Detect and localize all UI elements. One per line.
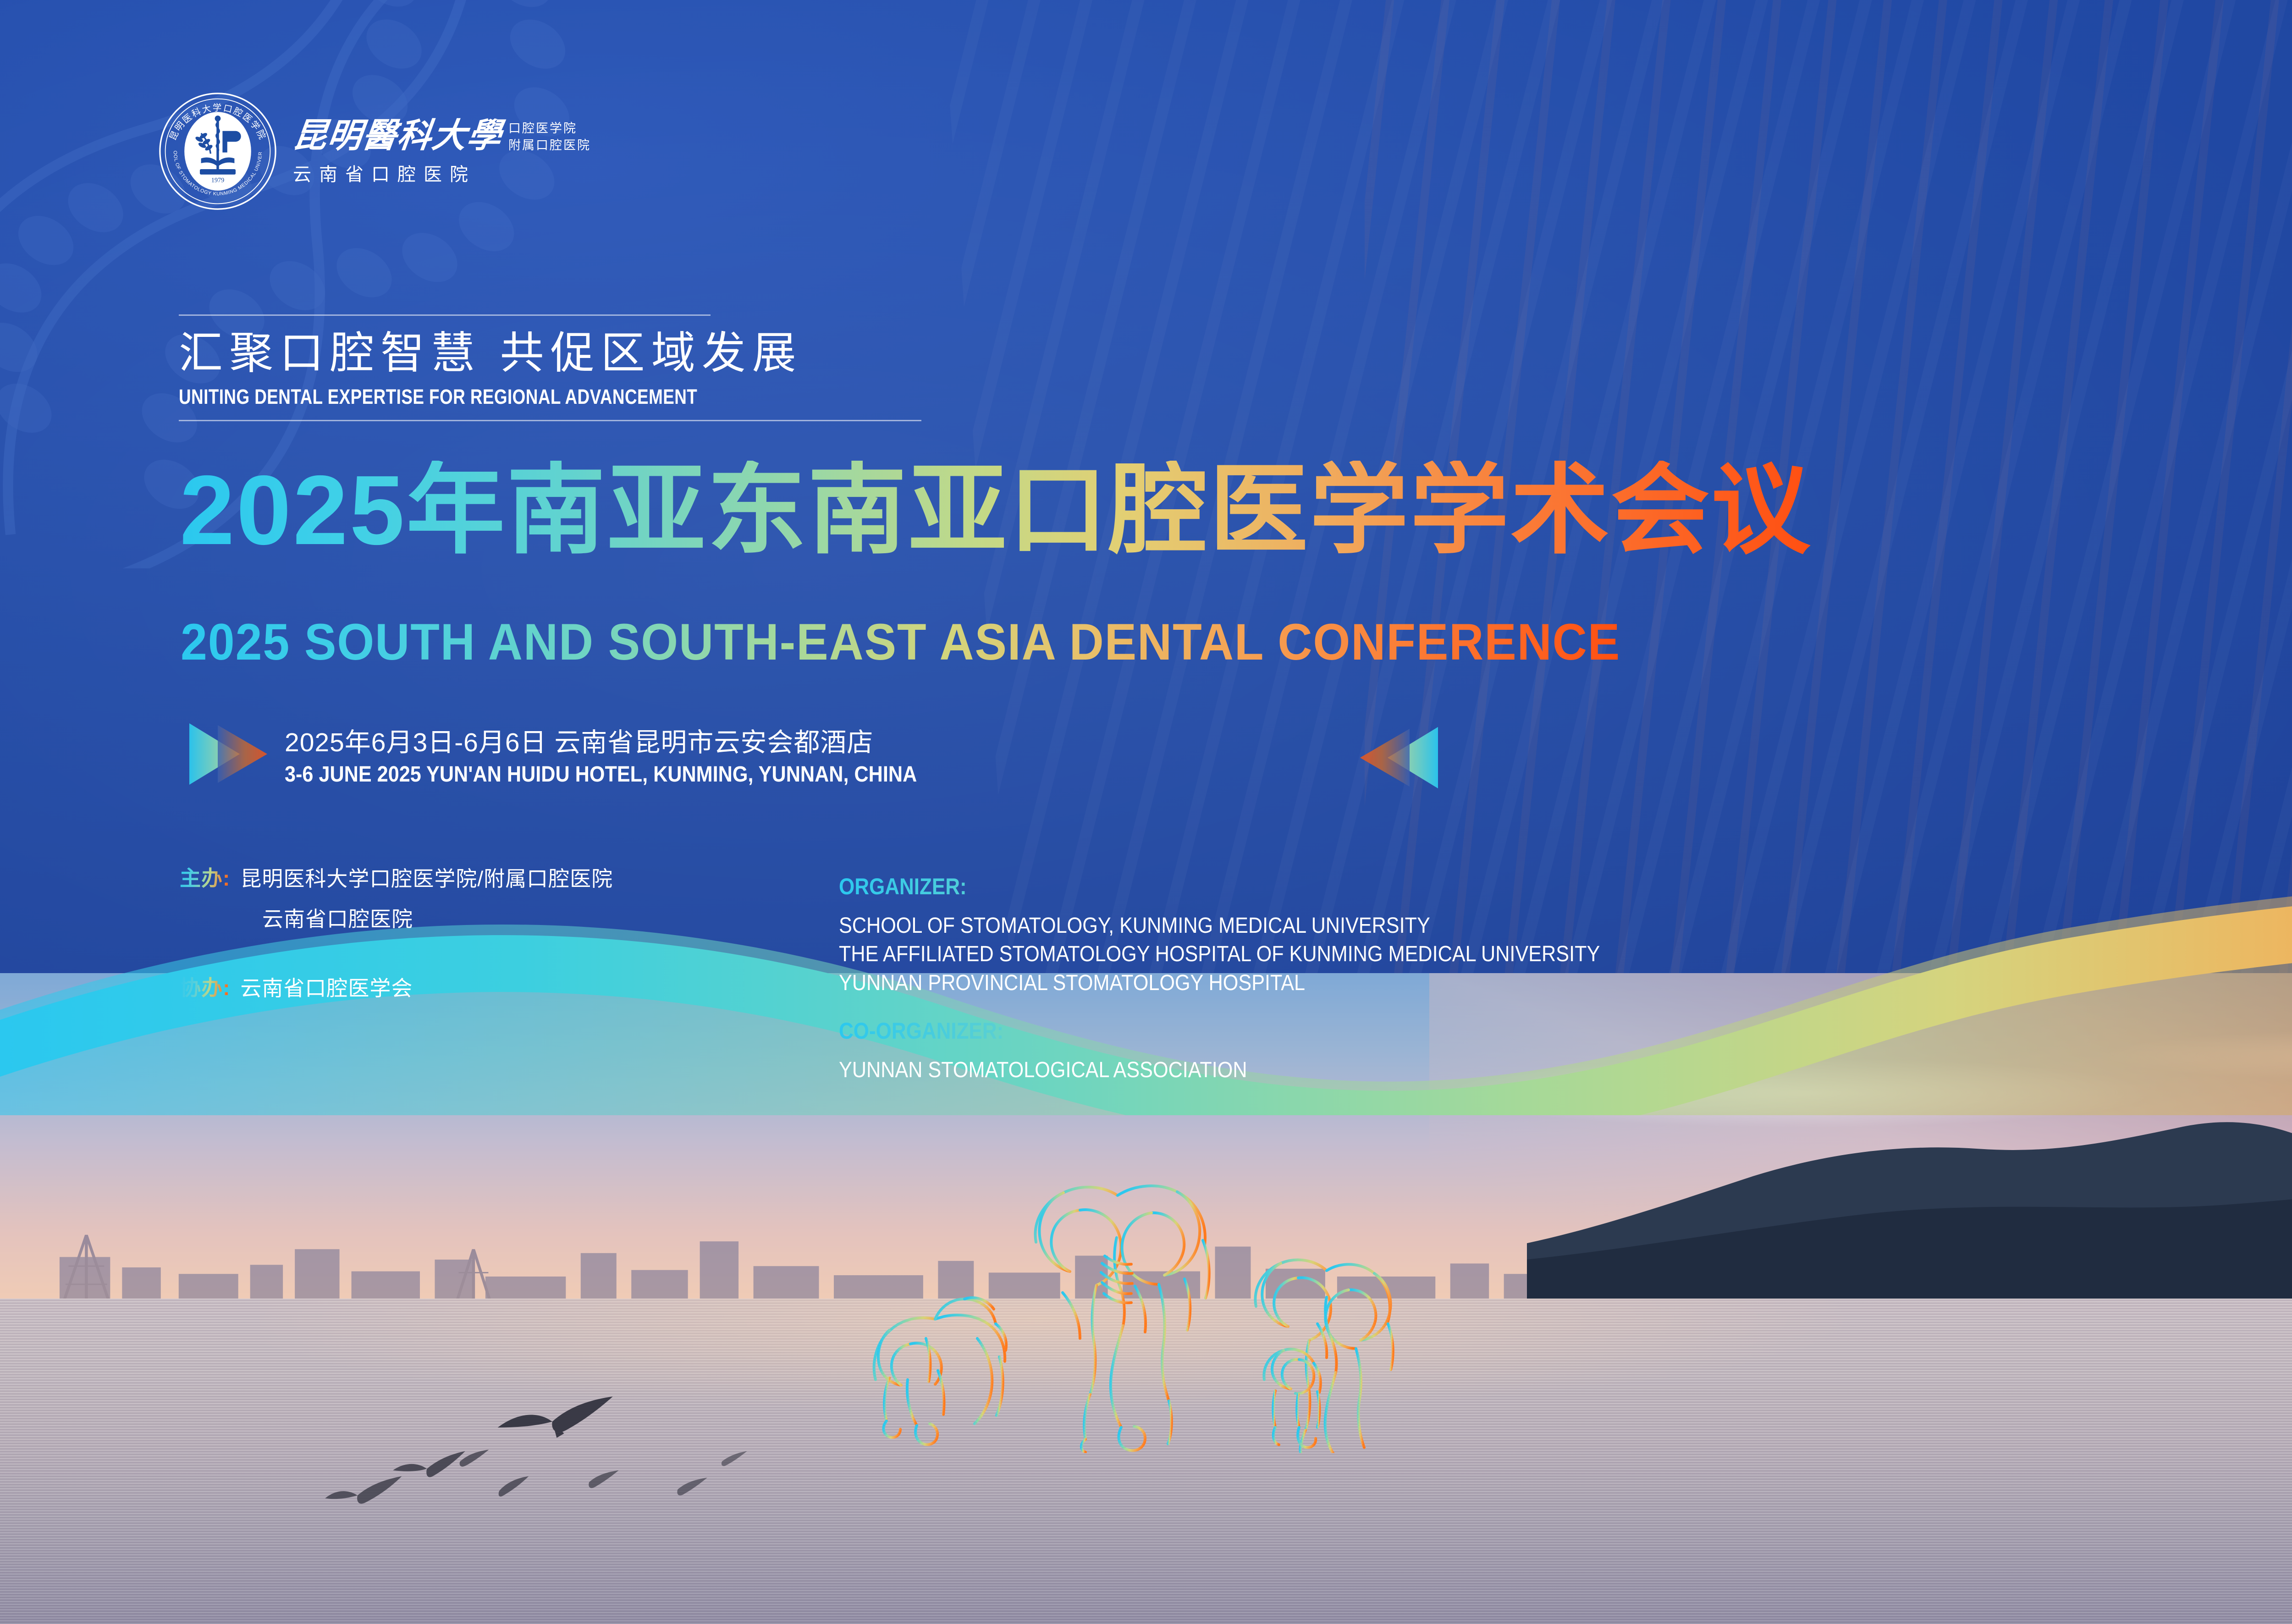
conference-title-english: 2025 SOUTH AND SOUTH-EAST ASIA DENTAL CO… — [181, 617, 1620, 668]
mountain-range — [1527, 1103, 2292, 1299]
organizer-value-en-3: YUNNAN PROVINCIAL STOMATOLOGY HOSPITAL — [839, 969, 1600, 997]
organizer-value-cn-2: 云南省口腔医院 — [262, 903, 613, 933]
conference-title-chinese: 2025年南亚东南亚口腔医学学术会议 — [180, 461, 1812, 559]
logo-school-line: 口腔医学院 — [508, 121, 591, 136]
school-seal-icon: 昆明医科大学口腔医学院 SCHOOL OF STOMATOLOGY KUNMIN… — [158, 92, 277, 211]
organizers-chinese-block: 主办: 昆明医科大学口腔医学院/附属口腔医院 云南省口腔医院 协办: 云南省口腔… — [180, 862, 613, 1005]
elephant-herd-icon — [862, 1123, 1403, 1453]
tagline-rule-bottom — [179, 420, 921, 421]
conference-poster: 昆明医科大学口腔医学院 SCHOOL OF STOMATOLOGY KUNMIN… — [0, 0, 2292, 1624]
svg-text:1979: 1979 — [211, 177, 225, 184]
organizer-value-en-1: SCHOOL OF STOMATOLOGY, KUNMING MEDICAL U… — [839, 912, 1600, 940]
logo-hospital-line: 附属口腔医院 — [508, 138, 591, 153]
double-chevron-right-icon — [186, 720, 273, 788]
logo-text-block: 昆明醫科大學 口腔医学院 附属口腔医院 云南省口腔医院 — [293, 116, 591, 186]
co-organizer-label-cn: 协办: — [180, 971, 230, 1002]
organizers-english-block: ORGANIZER: SCHOOL OF STOMATOLOGY, KUNMIN… — [839, 873, 1685, 1085]
date-venue-block: 2025年6月3日-6月6日 云南省昆明市云安会都酒店 3-6 JUNE 202… — [186, 720, 987, 788]
tagline-english: UNITING DENTAL EXPERTISE FOR REGIONAL AD… — [179, 385, 788, 409]
double-chevron-left-icon — [1355, 723, 1442, 792]
tagline-chinese: 汇聚口腔智慧 共促区域发展 — [179, 330, 921, 377]
co-organizer-value-en-1: YUNNAN STOMATOLOGICAL ASSOCIATION — [839, 1056, 1600, 1085]
organizer-value-cn-1: 昆明医科大学口腔医学院/附属口腔医院 — [240, 862, 613, 896]
university-logo: 昆明医科大学口腔医学院 SCHOOL OF STOMATOLOGY KUNMIN… — [158, 92, 591, 211]
co-organizer-label-en: CO-ORGANIZER: — [839, 1018, 1583, 1044]
organizer-label-cn: 主办: — [180, 862, 230, 892]
co-organizer-value-cn-1: 云南省口腔医学会 — [240, 971, 413, 1006]
logo-university-name: 昆明醫科大學 — [291, 119, 504, 153]
tagline-rule-top — [179, 314, 711, 316]
organizer-value-en-2: THE AFFILIATED STOMATOLOGY HOSPITAL OF K… — [839, 940, 1600, 969]
date-venue-english: 3-6 JUNE 2025 YUN'AN HUIDU HOTEL, KUNMIN… — [285, 762, 917, 787]
logo-provincial-hospital: 云南省口腔医院 — [293, 160, 591, 186]
organizer-label-en: ORGANIZER: — [839, 873, 1583, 900]
date-venue-chinese: 2025年6月3日-6月6日 云南省昆明市云安会都酒店 — [285, 721, 987, 759]
tagline-block: 汇聚口腔智慧 共促区域发展 UNITING DENTAL EXPERTISE F… — [179, 314, 921, 421]
